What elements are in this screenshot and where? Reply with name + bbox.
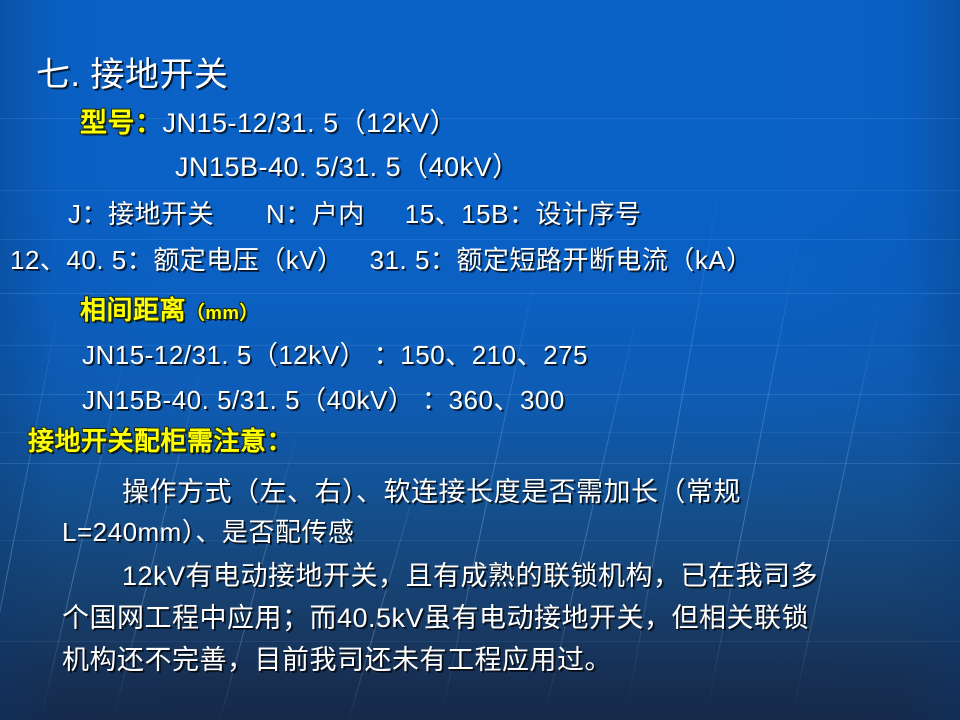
model-label: 型号：: [80, 108, 163, 138]
phase-distance-heading-main: 相间距离: [80, 295, 186, 325]
legend-rated-voltage: 12、40. 5：额定电压（kV）: [10, 245, 344, 275]
slide-title: 七. 接地开关: [36, 47, 228, 96]
legend-j: J：接地开关: [68, 199, 214, 229]
notes-para2-line2: 个国网工程中应用；而40.5kV虽有电动接地开关，但相关联锁: [62, 596, 809, 635]
notes-para2-line1: 12kV有电动接地开关，且有成熟的联锁机构，已在我司多: [122, 554, 818, 593]
phase-distance-row-1: JN15-12/31. 5（12kV） ：150、210、275: [82, 335, 588, 372]
notes-para1-line1: 操作方式（左、右）、软连接长度是否需加长（常规: [122, 470, 741, 509]
phase-distance-heading: 相间距离（mm）: [80, 290, 259, 327]
legend-breaking-current: 31. 5：额定短路开断电流（kA）: [370, 245, 753, 275]
presentation-slide: 七. 接地开关 型号：JN15-12/31. 5（12kV） JN15B-40.…: [0, 0, 960, 720]
legend-n: N：户内: [266, 199, 365, 229]
phase-distance-row-2: JN15B-40. 5/31. 5（40kV） ：360、300: [82, 380, 565, 417]
legend-line-1: J：接地开关N：户内15、15B：设计序号: [68, 194, 641, 231]
notes-heading: 接地开关配柜需注意：: [28, 421, 293, 458]
notes-para2-line3: 机构还不完善，目前我司还未有工程应用过。: [62, 638, 612, 677]
notes-para1-line2: L=240mm）、是否配传感: [62, 512, 354, 549]
legend-line-2: 12、40. 5：额定电压（kV）31. 5：额定短路开断电流（kA）: [10, 240, 753, 277]
model-value-2: JN15B-40. 5/31. 5（40kV）: [175, 145, 520, 184]
model-value-1: JN15-12/31. 5（12kV）: [163, 108, 458, 138]
slide-content: 七. 接地开关 型号：JN15-12/31. 5（12kV） JN15B-40.…: [0, 0, 960, 720]
model-row-1: 型号：JN15-12/31. 5（12kV）: [80, 101, 457, 140]
legend-serial: 15、15B：设计序号: [405, 199, 642, 229]
phase-distance-unit: （mm）: [186, 302, 259, 323]
